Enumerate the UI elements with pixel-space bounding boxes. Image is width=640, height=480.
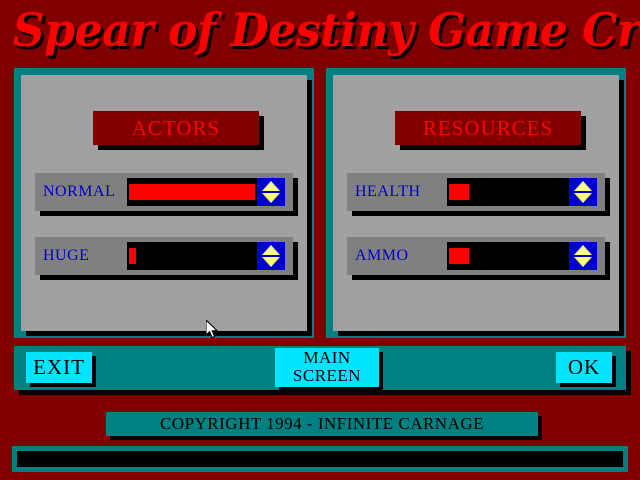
spinner-up-icon[interactable] (574, 245, 592, 255)
spinner-down-icon[interactable] (262, 257, 280, 267)
spinner-normal[interactable] (257, 178, 285, 206)
spinner-health[interactable] (569, 178, 597, 206)
spinner-down-icon[interactable] (574, 257, 592, 267)
slider-row-normal[interactable]: NORMAL (35, 173, 293, 211)
slider-fill-health (449, 184, 469, 200)
title-banner: Spear of Destiny Game Creator (0, 0, 640, 62)
slider-row-ammo[interactable]: AMMO (347, 237, 605, 275)
panel-resources-body: RESOURCES HEALTH AMMO (333, 75, 619, 331)
panel-actors-body: ACTORS NORMAL HUGE (21, 75, 307, 331)
slider-label-ammo: AMMO (355, 237, 409, 275)
slider-fill-ammo (449, 248, 469, 264)
panel-header-resources: RESOURCES (395, 111, 581, 145)
spinner-ammo[interactable] (569, 242, 597, 270)
application-window: Spear of Destiny Game Creator ACTORS NOR… (0, 0, 640, 480)
spinner-up-icon[interactable] (262, 181, 280, 191)
slider-track-ammo[interactable] (447, 242, 597, 270)
slider-track-huge[interactable] (127, 242, 285, 270)
status-bar-text (17, 451, 623, 467)
copyright-bar: COPYRIGHT 1994 - INFINITE CARNAGE (106, 412, 538, 436)
exit-button[interactable]: EXIT (26, 352, 92, 383)
slider-track-health[interactable] (447, 178, 597, 206)
spinner-up-icon[interactable] (262, 245, 280, 255)
spinner-down-icon[interactable] (262, 193, 280, 203)
panel-header-actors: ACTORS (93, 111, 259, 145)
slider-label-health: HEALTH (355, 173, 421, 211)
main-screen-button-line1: MAIN (275, 349, 379, 367)
bottom-button-bar: EXIT MAIN SCREEN OK (14, 346, 626, 390)
status-bar (12, 446, 628, 472)
ok-button[interactable]: OK (556, 352, 612, 383)
slider-label-huge: HUGE (43, 237, 89, 275)
slider-row-huge[interactable]: HUGE (35, 237, 293, 275)
page-title: Spear of Destiny Game Creator (13, 2, 627, 58)
main-screen-button[interactable]: MAIN SCREEN (275, 348, 379, 387)
slider-fill-normal (129, 184, 255, 200)
spinner-huge[interactable] (257, 242, 285, 270)
panel-actors: ACTORS NORMAL HUGE (14, 68, 314, 338)
spinner-down-icon[interactable] (574, 193, 592, 203)
slider-fill-huge (129, 248, 136, 264)
slider-row-health[interactable]: HEALTH (347, 173, 605, 211)
panel-resources: RESOURCES HEALTH AMMO (326, 68, 626, 338)
slider-track-normal[interactable] (127, 178, 285, 206)
slider-label-normal: NORMAL (43, 173, 115, 211)
spinner-up-icon[interactable] (574, 181, 592, 191)
main-screen-button-line2: SCREEN (275, 367, 379, 385)
